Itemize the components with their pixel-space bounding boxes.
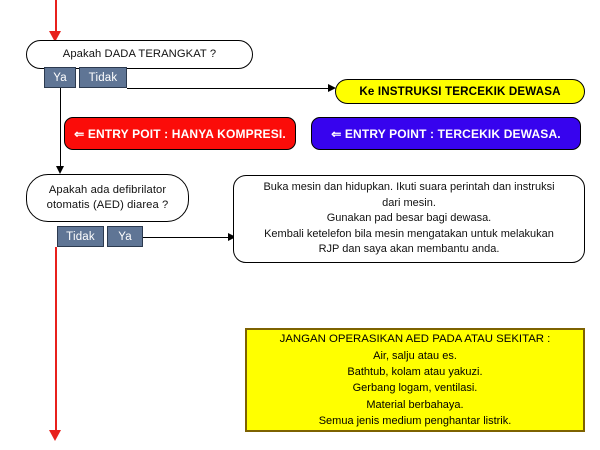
warning-box-aed-restrictions: JANGAN OPERASIKAN AED PADA ATAU SEKITAR … <box>245 328 585 432</box>
warning-heading: JANGAN OPERASIKAN AED PADA ATAU SEKITAR … <box>280 331 551 348</box>
instruction-line-1: Buka mesin dan hidupkan. Ikuti suara per… <box>263 180 554 196</box>
option-aed-no-label: Tidak <box>66 231 95 243</box>
banner-goto-choking-instructions-label: Ke INSTRUKSI TERCEKIK DEWASA <box>359 85 560 98</box>
warning-item-4: Material berbahaya. <box>366 397 463 413</box>
connector-aed-yes-to-instructions <box>143 237 231 238</box>
entry-point-compression-only[interactable]: ⇐ ENTRY POIT : HANYA KOMPRESI. <box>64 117 296 150</box>
instruction-line-5: RJP dan saya akan membantu anda. <box>319 242 500 258</box>
warning-item-5: Semua jenis medium penghantar listrik. <box>319 413 512 429</box>
option-chest-no[interactable]: Tidak <box>79 67 127 88</box>
arrowhead-chest-yes-to-aed <box>56 166 64 174</box>
connector-chest-no-to-goto <box>127 88 331 89</box>
warning-item-1: Air, salju atau es. <box>373 348 457 364</box>
warning-item-2: Bathtub, kolam atau yakuzi. <box>347 364 482 380</box>
option-aed-yes[interactable]: Ya <box>107 226 143 247</box>
entry-point-adult-choking[interactable]: ⇐ ENTRY POINT : TERCEKIK DEWASA. <box>311 117 581 150</box>
decision-chest-rise[interactable]: Apakah DADA TERANGKAT ? <box>26 40 253 69</box>
connector-entry-top <box>55 0 57 32</box>
entry-point-compression-only-label: ⇐ ENTRY POIT : HANYA KOMPRESI. <box>74 127 286 141</box>
flowchart-canvas: Apakah DADA TERANGKAT ? Ya Tidak Ke INST… <box>0 0 600 450</box>
instruction-box-aed-operation: Buka mesin dan hidupkan. Ikuti suara per… <box>233 175 585 263</box>
option-chest-yes[interactable]: Ya <box>44 67 76 88</box>
option-chest-no-label: Tidak <box>89 72 118 84</box>
option-chest-yes-label: Ya <box>53 72 67 84</box>
option-aed-yes-label: Ya <box>118 231 132 243</box>
decision-aed-available-line-2: otomatis (AED) diarea ? <box>47 198 169 213</box>
banner-goto-choking-instructions[interactable]: Ke INSTRUKSI TERCEKIK DEWASA <box>335 79 585 104</box>
arrowhead-aed-no-down <box>49 430 61 441</box>
instruction-line-3: Gunakan pad besar bagi dewasa. <box>327 211 492 227</box>
option-aed-no[interactable]: Tidak <box>57 226 104 247</box>
entry-point-adult-choking-label: ⇐ ENTRY POINT : TERCEKIK DEWASA. <box>331 127 561 141</box>
decision-aed-available[interactable]: Apakah ada defibrilator otomatis (AED) d… <box>26 174 189 222</box>
instruction-line-4: Kembali ketelefon bila mesin mengatakan … <box>264 227 554 243</box>
decision-aed-available-line-1: Apakah ada defibrilator <box>49 183 166 198</box>
connector-aed-no-down <box>55 247 57 431</box>
connector-chest-yes-to-aed <box>60 88 61 167</box>
warning-item-3: Gerbang logam, ventilasi. <box>353 380 478 396</box>
decision-chest-rise-label: Apakah DADA TERANGKAT ? <box>63 47 216 62</box>
instruction-line-2: dari mesin. <box>382 196 436 212</box>
